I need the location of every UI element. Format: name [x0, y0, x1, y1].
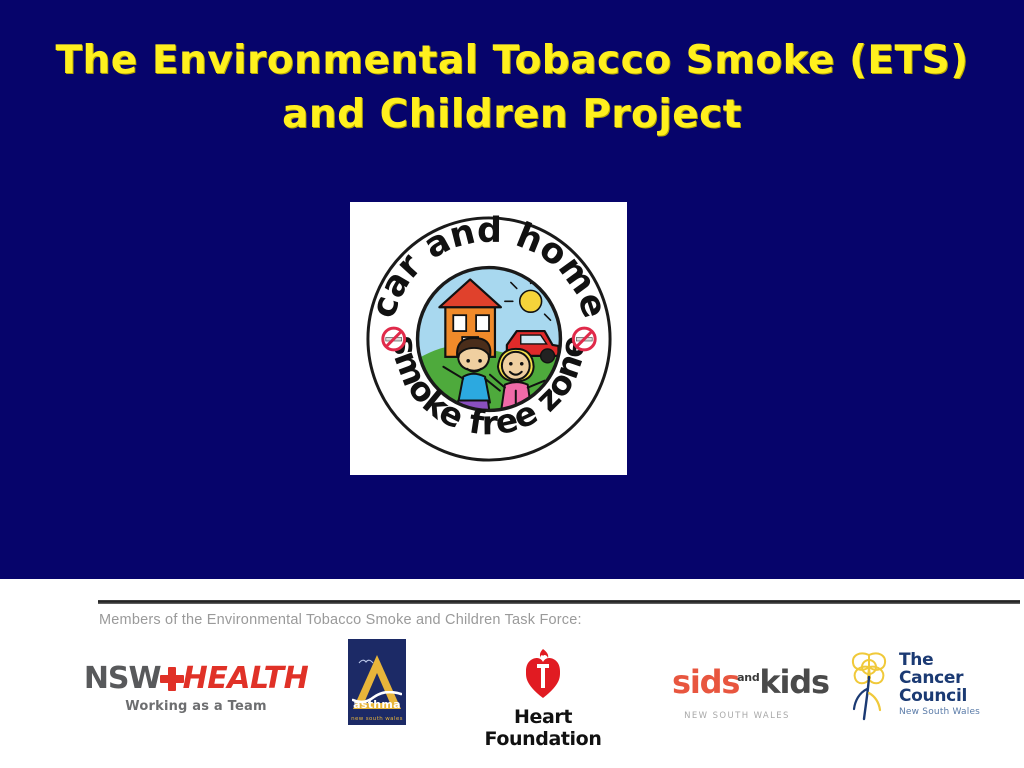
logo-card: car and home smoke free zone [350, 202, 627, 475]
partner-logo-strip: NSW HEALTH Working as a Team [0, 639, 1024, 759]
health-wordmark: HEALTH [183, 664, 309, 694]
red-cross-icon [159, 666, 185, 692]
asthma-wordmark: asthma [348, 698, 406, 711]
footer-panel: Members of the Environmental Tobacco Smo… [0, 579, 1024, 768]
slide-title: The Environmental Tobacco Smoke (ETS) an… [0, 36, 1024, 140]
partner-logo-cancer-council-nsw: The Cancer Council New South Wales [843, 647, 993, 721]
asthma-subtitle: new south wales [348, 716, 406, 722]
kids-wordmark: kids [759, 663, 828, 701]
heart-torch-icon [463, 647, 623, 699]
nsw-wordmark: NSW [84, 664, 161, 694]
slide-body-panel: The Environmental Tobacco Smoke (ETS) an… [0, 0, 1024, 579]
sids-wordmark: sids [672, 663, 739, 701]
daffodil-icon [843, 647, 897, 721]
car-and-home-smoke-free-zone-logo: car and home smoke free zone [360, 210, 618, 468]
presentation-slide: The Environmental Tobacco Smoke (ETS) an… [0, 0, 1024, 768]
footer-divider [98, 600, 1020, 604]
no-smoking-icon-left [382, 328, 404, 350]
partner-logo-asthma-nsw: asthma new south wales [348, 639, 410, 725]
cancer-council-line-3: Council [899, 687, 980, 705]
partner-logo-nsw-health: NSW HEALTH Working as a Team [96, 662, 296, 714]
title-line-1: The Environmental Tobacco Smoke (ETS) [40, 36, 984, 86]
no-smoking-icon-right [573, 328, 595, 350]
partner-logo-heart-foundation: Heart Foundation [463, 647, 623, 750]
and-wordmark: and [737, 671, 759, 684]
nsw-health-tagline: Working as a Team [96, 699, 296, 714]
footer-caption: Members of the Environmental Tobacco Smo… [99, 612, 582, 628]
cancer-council-line-2: Cancer [899, 669, 980, 687]
sids-kids-subtitle: NEW SOUTH WALES [672, 711, 802, 721]
title-line-2: and Children Project [40, 90, 984, 140]
partner-logo-sids-and-kids: sids and kids NEW SOUTH WALES [672, 665, 802, 721]
bird-icon [358, 657, 374, 665]
cancer-council-line-1: The [899, 651, 980, 669]
heart-foundation-wordmark: Heart Foundation [463, 706, 623, 750]
cancer-council-subtitle: New South Wales [899, 707, 980, 717]
